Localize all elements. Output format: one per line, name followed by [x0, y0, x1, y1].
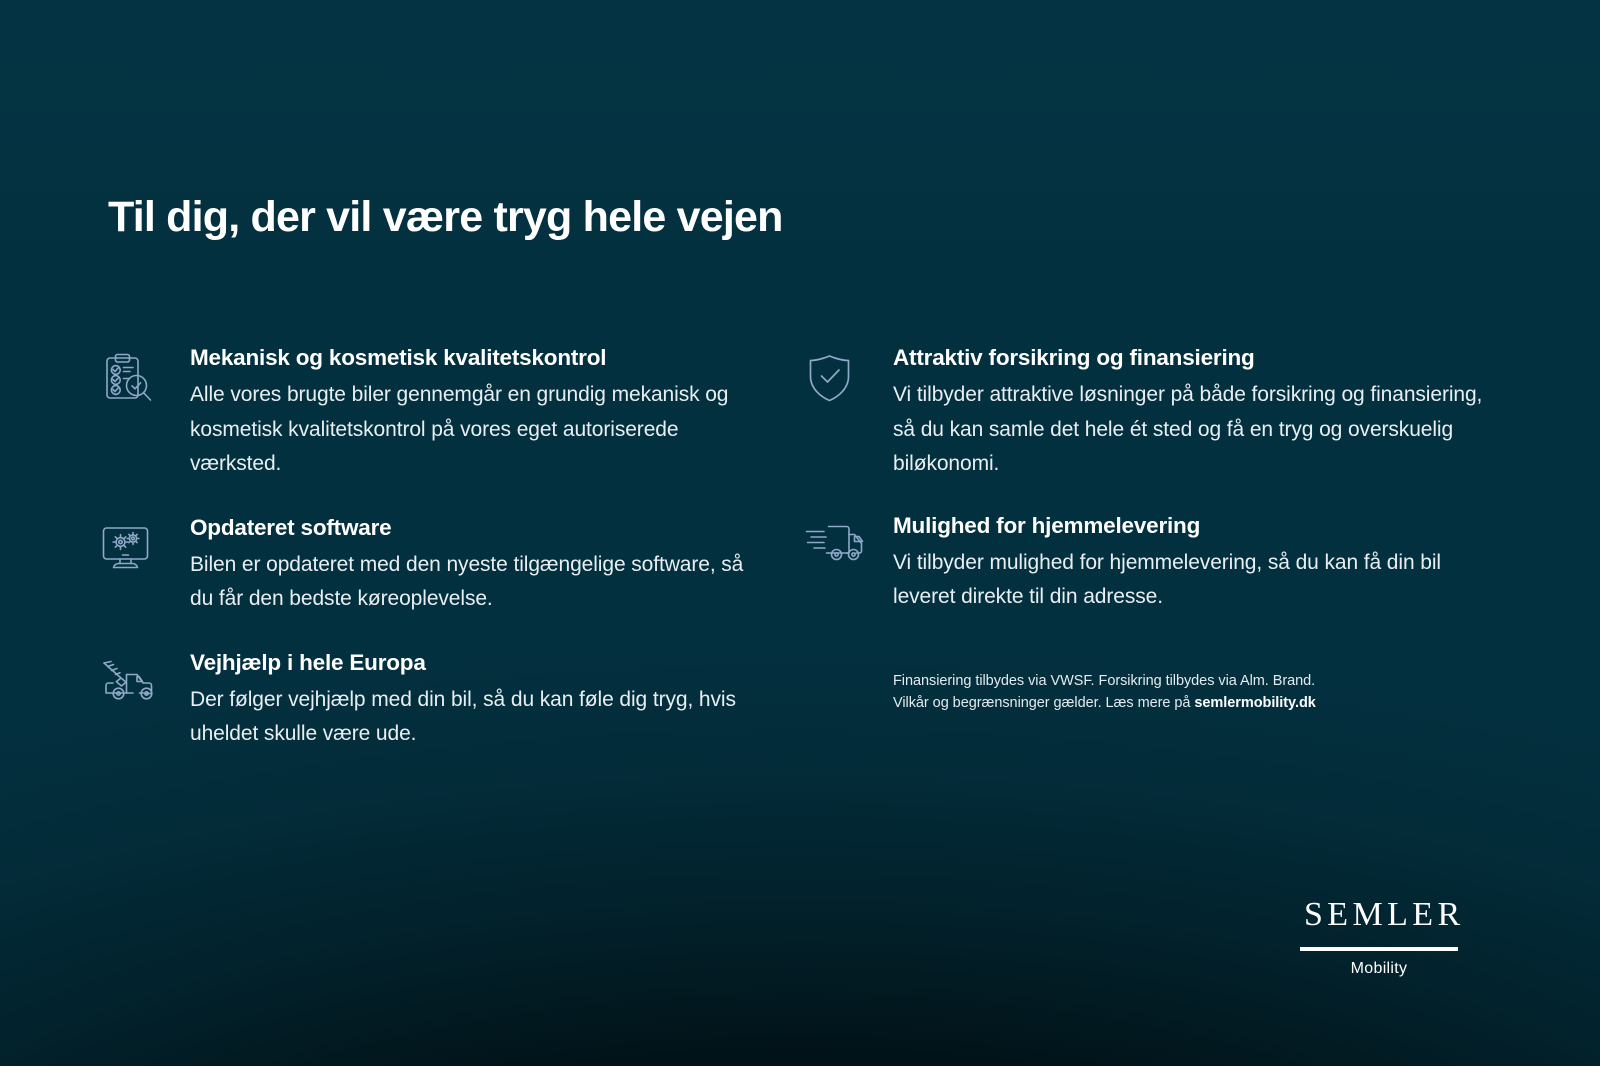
clipboard-check-magnifier-icon: [100, 352, 162, 408]
delivery-truck-icon: [805, 520, 867, 576]
disclaimer-text: Finansiering tilbydes via VWSF. Forsikri…: [893, 670, 1453, 714]
feature-item-quality-control: Mekanisk og kosmetisk kvalitetskontrol A…: [100, 344, 760, 482]
feature-body: Opdateret software Bilen er opdateret me…: [162, 514, 760, 617]
semler-mobility-logo: SEMLER Mobility: [1300, 898, 1458, 978]
feature-item-roadside-assistance: Vejhjælp i hele Europa Der følger vejhjæ…: [100, 649, 760, 752]
feature-column-left: Mekanisk og kosmetisk kvalitetskontrol A…: [100, 344, 760, 784]
feature-title: Opdateret software: [190, 514, 760, 542]
feature-description: Vi tilbyder attraktive løsninger på både…: [893, 378, 1495, 482]
feature-description: Vi tilbyder mulighed for hjemmelevering,…: [893, 546, 1495, 615]
logo-divider: [1300, 947, 1458, 951]
logo-subtitle: Mobility: [1300, 960, 1458, 978]
page-title: Til dig, der vil være tryg hele vejen: [108, 193, 783, 242]
disclaimer-line-1: Finansiering tilbydes via VWSF. Forsikri…: [893, 673, 1315, 689]
poster-content: Til dig, der vil være tryg hele vejen: [0, 0, 1600, 1066]
shield-check-icon: [805, 352, 867, 408]
monitor-gears-icon: [100, 522, 162, 578]
feature-title: Mulighed for hjemmelevering: [893, 512, 1495, 540]
tow-truck-icon: [100, 657, 162, 713]
feature-description: Bilen er opdateret med den nyeste tilgæn…: [190, 548, 760, 617]
poster-canvas: Til dig, der vil være tryg hele vejen: [0, 0, 1600, 1066]
feature-description: Der følger vejhjælp med din bil, så du k…: [190, 683, 760, 752]
feature-title: Mekanisk og kosmetisk kvalitetskontrol: [190, 344, 760, 372]
feature-item-home-delivery: Mulighed for hjemmelevering Vi tilbyder …: [805, 512, 1495, 615]
feature-body: Vejhjælp i hele Europa Der følger vejhjæ…: [162, 649, 760, 752]
disclaimer-line-2-prefix: Vilkår og begrænsninger gælder. Læs mere…: [893, 695, 1194, 711]
feature-title: Vejhjælp i hele Europa: [190, 649, 760, 677]
semlermobility-link[interactable]: semlermobility.dk: [1194, 695, 1315, 711]
feature-item-insurance-financing: Attraktiv forsikring og finansiering Vi …: [805, 344, 1495, 482]
feature-body: Mulighed for hjemmelevering Vi tilbyder …: [867, 512, 1495, 615]
feature-description: Alle vores brugte biler gennemgår en gru…: [190, 378, 760, 482]
feature-item-software: Opdateret software Bilen er opdateret me…: [100, 514, 760, 617]
logo-wordmark: SEMLER: [1300, 898, 1458, 932]
feature-body: Mekanisk og kosmetisk kvalitetskontrol A…: [162, 344, 760, 482]
feature-title: Attraktiv forsikring og finansiering: [893, 344, 1495, 372]
feature-body: Attraktiv forsikring og finansiering Vi …: [867, 344, 1495, 482]
feature-column-right: Attraktiv forsikring og finansiering Vi …: [805, 344, 1495, 645]
